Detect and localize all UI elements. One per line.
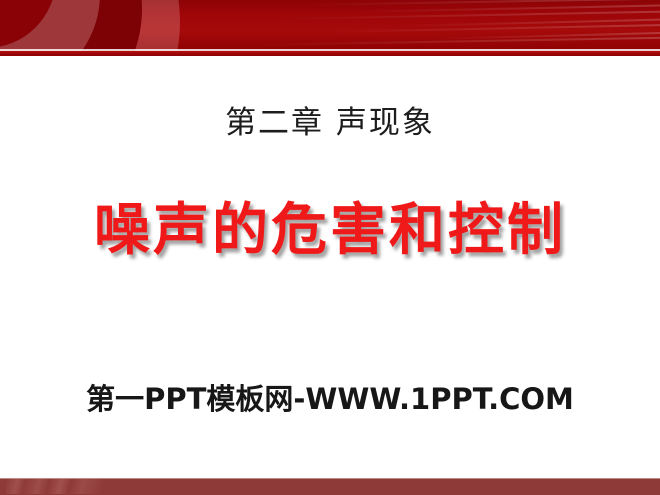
streak-line — [250, 36, 660, 46]
streak-line — [350, 4, 660, 13]
decorative-arc-outer — [0, 0, 180, 56]
footer-watermark-mark — [6, 479, 102, 494]
presentation-slide: 第二章 声现象 噪声的危害和控制 第一PPT模板网-WWW.1PPT.COM — [0, 0, 660, 495]
streak-line — [280, 10, 660, 20]
streak-line — [430, 31, 660, 40]
chapter-subtitle: 第二章 声现象 — [0, 103, 660, 143]
template-watermark: 第一PPT模板网-WWW.1PPT.COM — [0, 380, 660, 418]
decorative-arc-middle — [0, 0, 142, 56]
streak-line — [300, 0, 660, 6]
slide-body: 第二章 声现象 噪声的危害和控制 第一PPT模板网-WWW.1PPT.COM — [0, 56, 660, 478]
streak-line — [400, 18, 660, 27]
page-title: 噪声的危害和控制 — [0, 196, 660, 264]
decorative-arc-core — [0, 0, 56, 48]
slide-footer-bar — [0, 478, 660, 495]
decorative-arc-inner — [0, 0, 100, 56]
slide-header-banner — [0, 0, 660, 56]
decorative-diagonal-streaks — [0, 0, 660, 50]
streak-line — [330, 24, 660, 33]
